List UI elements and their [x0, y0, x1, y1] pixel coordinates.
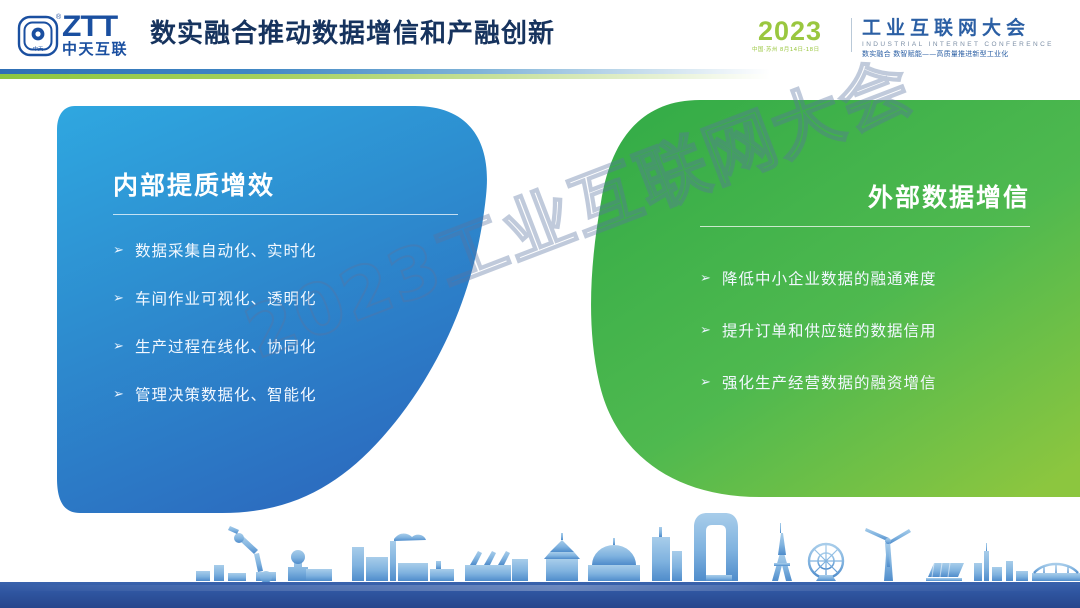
bullet-text: 车间作业可视化、透明化 — [135, 289, 317, 309]
list-item: ➢ 强化生产经营数据的融资增信 — [700, 373, 1030, 393]
slide-canvas: 中天 ® ZTT 中天互联 数实融合推动数据增信和产融创新 2023 中国·苏州… — [0, 0, 1080, 608]
arrow-bullet-icon: ➢ — [113, 337, 135, 357]
bullet-text: 管理决策数据化、智能化 — [135, 385, 317, 405]
list-item: ➢ 管理决策数据化、智能化 — [113, 385, 458, 405]
slide-title: 数实融合推动数据增信和产融创新 — [150, 13, 555, 50]
arrow-bullet-icon: ➢ — [113, 241, 135, 261]
svg-text:中天: 中天 — [33, 45, 43, 53]
conference-name-en: INDUSTRIAL INTERNET CONFERENCE — [862, 41, 1054, 49]
panel-external-bullets: ➢ 降低中小企业数据的融通难度 ➢ 提升订单和供应链的数据信用 ➢ 强化生产经营… — [700, 269, 1030, 393]
ztt-diamond-logo-icon: 中天 — [16, 14, 60, 58]
logo-wordmark: ZTT — [62, 12, 117, 42]
bullet-text: 提升订单和供应链的数据信用 — [722, 321, 937, 341]
conference-lockup: 2023 中国·苏州 8月14日-18日 工业互联网大会 INDUSTRIAL … — [744, 16, 1074, 66]
logo-chinese-name: 中天互联 — [62, 41, 128, 57]
conference-name-cn: 工业互联网大会 — [862, 18, 1030, 39]
conference-tagline: 数实融合 数智赋能——高质量推进新型工业化 — [862, 50, 1008, 59]
ztt-logo: 中天 ® ZTT 中天互联 — [16, 8, 144, 62]
panels-region: 内部提质增效 ➢ 数据采集自动化、实时化 ➢ 车间作业可视化、透明化 ➢ 生产过… — [0, 86, 1080, 516]
panel-internal-title: 内部提质增效 — [113, 166, 458, 202]
bullet-text: 数据采集自动化、实时化 — [135, 241, 317, 261]
conference-date: 中国·苏州 8月14日-18日 — [752, 47, 819, 54]
slide-footer — [0, 513, 1080, 608]
arrow-bullet-icon: ➢ — [113, 289, 135, 309]
list-item: ➢ 车间作业可视化、透明化 — [113, 289, 458, 309]
list-item: ➢ 生产过程在线化、协同化 — [113, 337, 458, 357]
bullet-text: 强化生产经营数据的融资增信 — [722, 373, 937, 393]
list-item: ➢ 提升订单和供应链的数据信用 — [700, 321, 1030, 341]
slide-header: 中天 ® ZTT 中天互联 数实融合推动数据增信和产融创新 2023 中国·苏州… — [0, 0, 1080, 68]
panel-external-divider — [700, 226, 1030, 227]
panel-internal: 内部提质增效 ➢ 数据采集自动化、实时化 ➢ 车间作业可视化、透明化 ➢ 生产过… — [113, 166, 458, 433]
conference-separator — [851, 18, 852, 52]
bullet-text: 生产过程在线化、协同化 — [135, 337, 317, 357]
conference-year: 2023 — [758, 18, 822, 45]
registered-mark-icon: ® — [56, 14, 61, 21]
list-item: ➢ 数据采集自动化、实时化 — [113, 241, 458, 261]
city-skyline-icon — [0, 513, 1080, 583]
arrow-bullet-icon: ➢ — [700, 373, 722, 393]
arrow-bullet-icon: ➢ — [700, 269, 722, 289]
panel-external-title: 外部数据增信 — [700, 178, 1030, 214]
arrow-bullet-icon: ➢ — [700, 321, 722, 341]
panel-external: 外部数据增信 ➢ 降低中小企业数据的融通难度 ➢ 提升订单和供应链的数据信用 ➢… — [700, 178, 1030, 425]
list-item: ➢ 降低中小企业数据的融通难度 — [700, 269, 1030, 289]
panel-internal-bullets: ➢ 数据采集自动化、实时化 ➢ 车间作业可视化、透明化 ➢ 生产过程在线化、协同… — [113, 241, 458, 405]
panel-internal-divider — [113, 214, 458, 215]
bullet-text: 降低中小企业数据的融通难度 — [722, 269, 937, 289]
sea-reflection — [0, 585, 1080, 591]
header-rule-green — [0, 74, 770, 79]
arrow-bullet-icon: ➢ — [113, 385, 135, 405]
